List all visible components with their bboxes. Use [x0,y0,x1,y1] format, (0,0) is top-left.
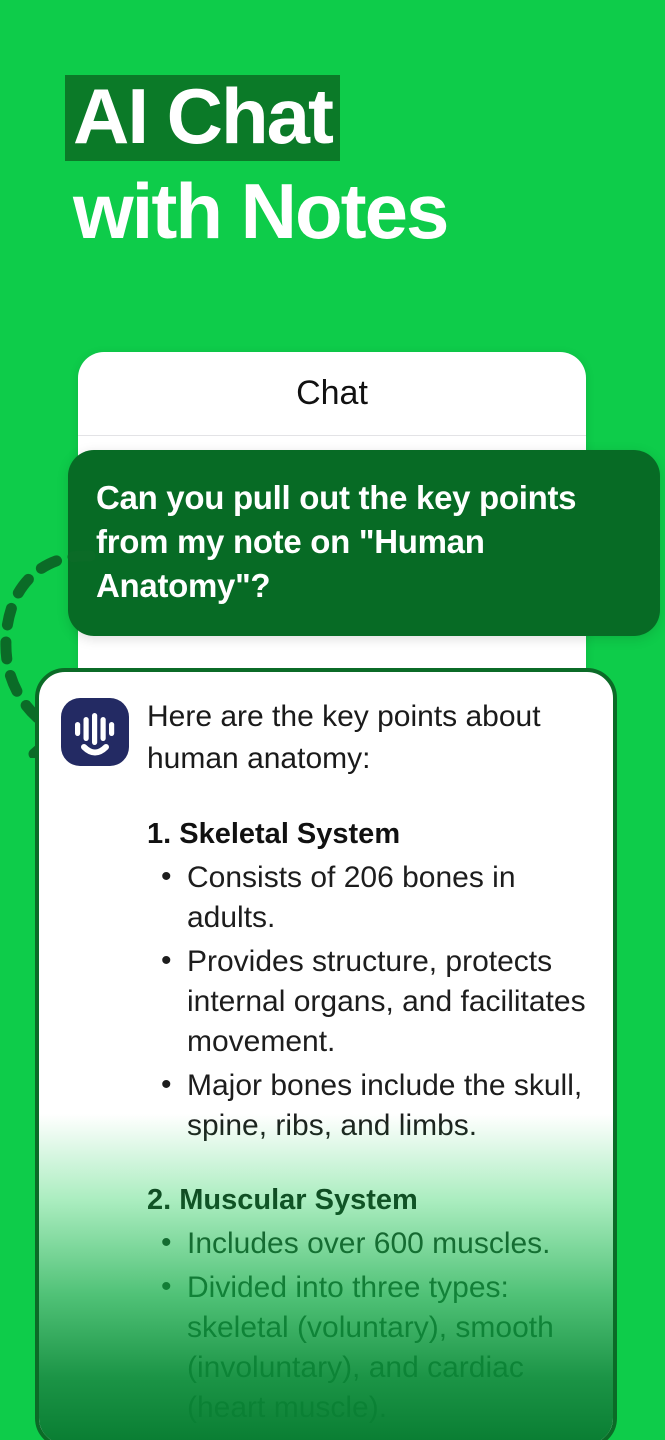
section-points-muscular: Includes over 600 muscles. Divided into … [147,1224,591,1440]
section-title-skeletal: 1. Skeletal System [147,814,591,854]
list-item: Consists of 206 bones in adults. [147,858,591,938]
assistant-intro: Here are the key points about human anat… [147,696,591,780]
user-message-bubble[interactable]: Can you pull out the key points from my … [68,450,660,636]
list-item: Divided into three types: skeletal (volu… [147,1268,591,1428]
promo-screen: AI Chat with Notes Chat Can you pull out… [0,0,665,1440]
assistant-message-body: Here are the key points about human anat… [147,694,591,1440]
list-item: Works with the skeletal [147,1432,591,1440]
list-item: Major bones include the skull, spine, ri… [147,1066,591,1146]
headline-highlight: AI Chat [65,75,340,161]
list-item: Includes over 600 muscles. [147,1224,591,1264]
app-waveform-smile-icon [61,698,129,766]
headline-line-2: with Notes [65,167,655,255]
chat-header: Chat [78,352,586,436]
list-item: Provides structure, protects internal or… [147,942,591,1062]
section-title-muscular: 2. Muscular System [147,1180,591,1220]
section-points-skeletal: Consists of 206 bones in adults. Provide… [147,858,591,1146]
page-title: AI Chat with Notes [65,72,655,255]
chat-title: Chat [296,374,368,413]
assistant-response-card[interactable]: Here are the key points about human anat… [35,668,617,1440]
headline-line-1: AI Chat [65,72,655,161]
user-message-text: Can you pull out the key points from my … [96,476,634,608]
